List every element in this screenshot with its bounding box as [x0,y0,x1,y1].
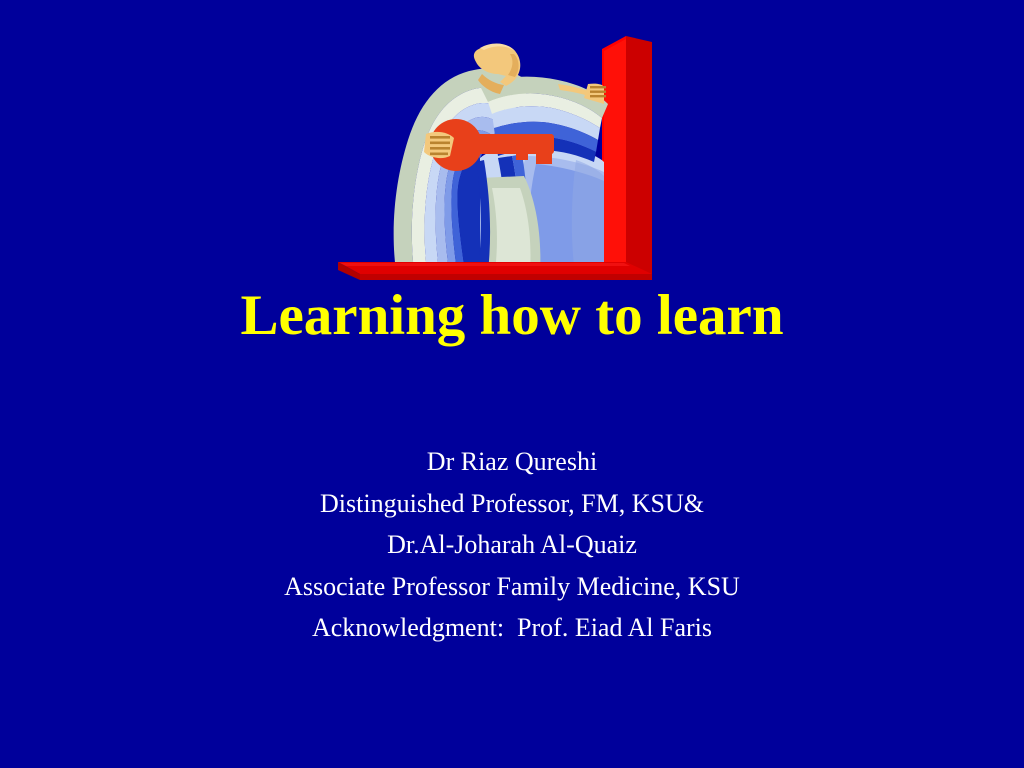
credit-line-copresenter: Dr.Al-Joharah Al-Quaiz [0,524,1024,566]
person-unlocking-door-clipart [330,28,660,280]
drape-right-sage [572,160,604,266]
credit-line-acknowledgment: Acknowledgment: Prof. Eiad Al Faris [0,607,1024,649]
credit-line-title-1: Distinguished Professor, FM, KSU& [0,483,1024,525]
presentation-slide: Learning how to learn Dr Riaz Qureshi Di… [0,0,1024,768]
presenter-credits-block: Dr Riaz Qureshi Distinguished Professor,… [0,441,1024,649]
credit-line-presenter: Dr Riaz Qureshi [0,441,1024,483]
key-hand [424,132,454,158]
door-panel [626,36,652,274]
credit-line-title-2: Associate Professor Family Medicine, KSU [0,566,1024,608]
floor-shadow [360,274,652,280]
page-title: Learning how to learn [0,285,1024,347]
